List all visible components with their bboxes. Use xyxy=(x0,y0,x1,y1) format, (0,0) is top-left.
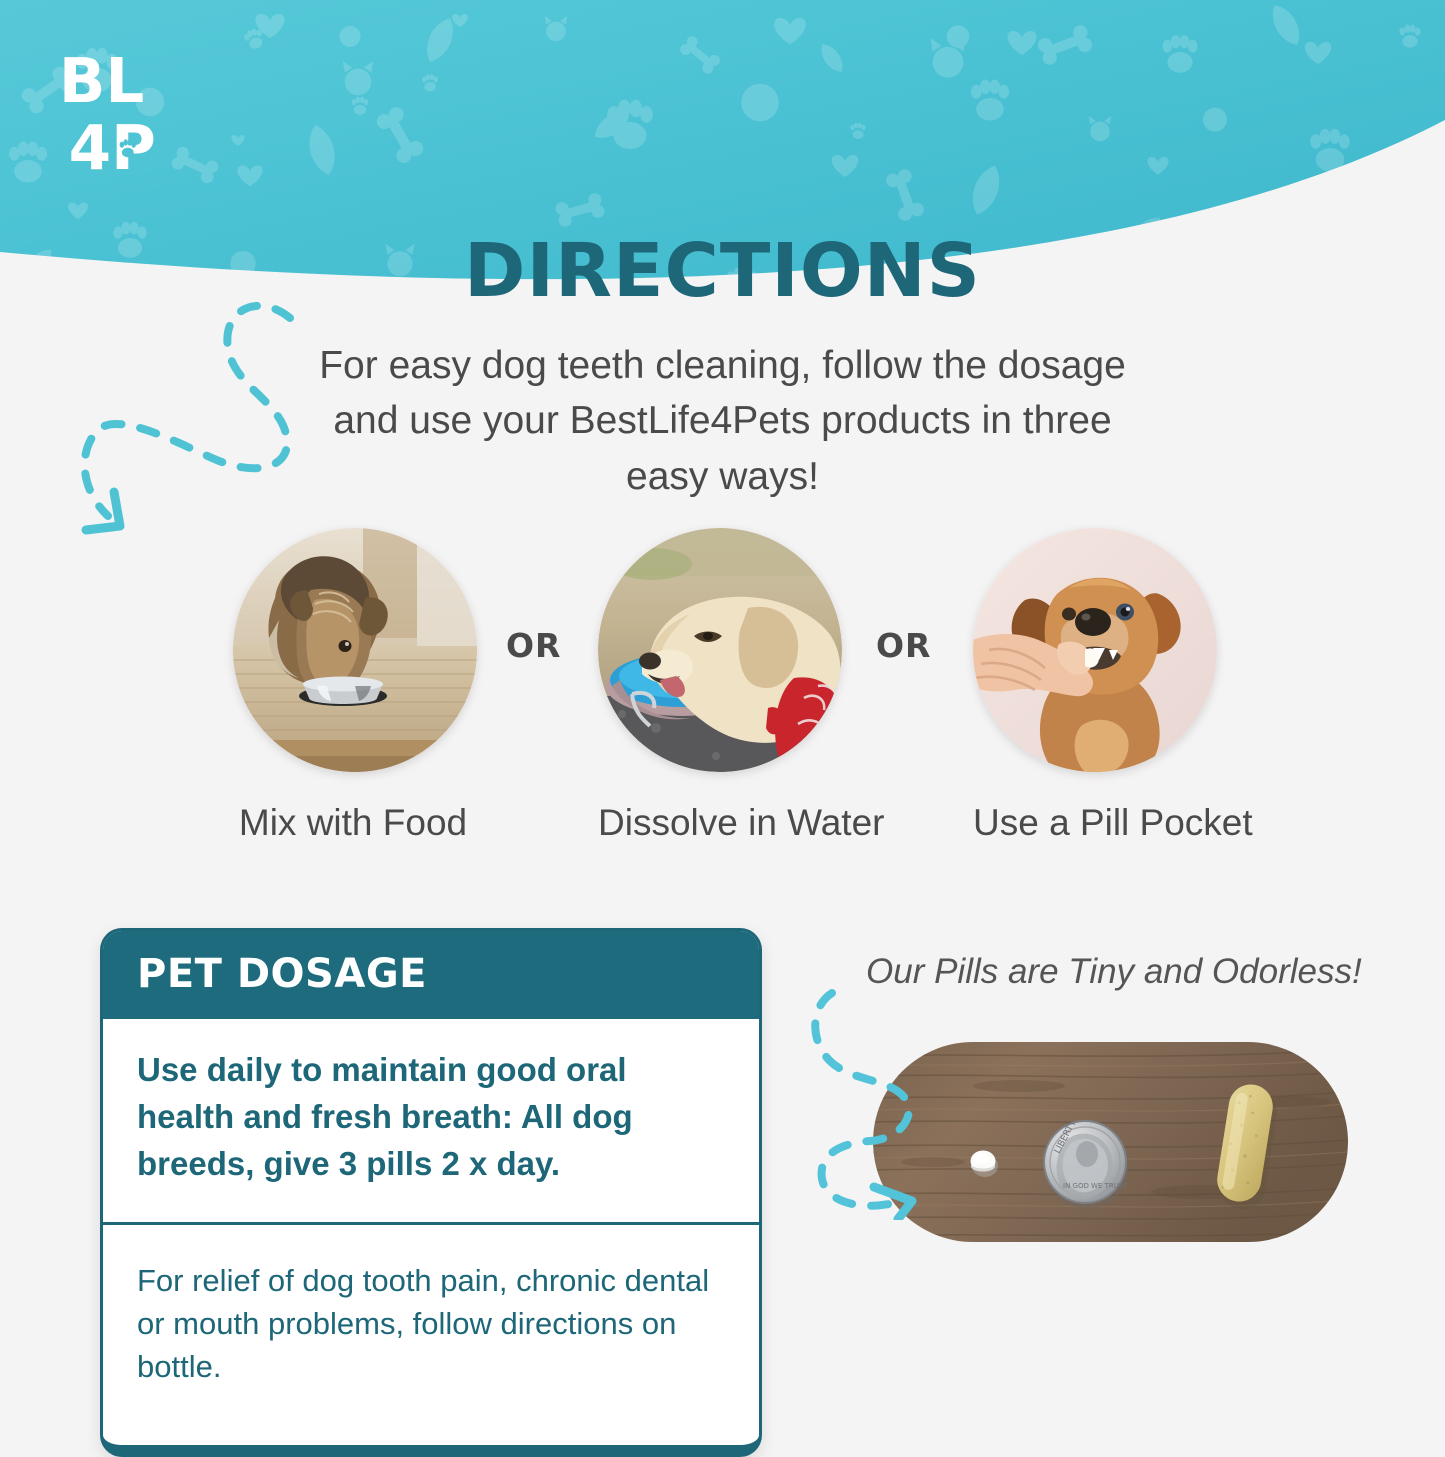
dog-eating-from-bowl-photo xyxy=(233,528,477,772)
brand-logo[interactable]: BL 4P xyxy=(58,47,168,177)
method-label: Dissolve in Water xyxy=(598,802,842,844)
page-subtitle: For easy dog teeth cleaning, follow the … xyxy=(308,338,1138,504)
logo-text-4p: 4P xyxy=(69,113,156,177)
pet-dosage-primary-text: Use daily to maintain good oral health a… xyxy=(103,1019,759,1225)
or-separator-1: OR xyxy=(506,626,561,665)
dashed-curved-arrow-icon xyxy=(52,282,332,562)
method-label: Use a Pill Pocket xyxy=(973,802,1217,844)
pet-dosage-heading: PET DOSAGE xyxy=(103,931,759,1019)
dashed-curved-arrow-right-icon xyxy=(808,975,1038,1220)
pet-dosage-secondary-text: For relief of dog tooth pain, chronic de… xyxy=(103,1225,759,1445)
method-label: Mix with Food xyxy=(229,802,477,844)
dog-drinking-from-bowl-photo xyxy=(598,528,842,772)
methods-row: Mix with Food OR xyxy=(0,528,1445,838)
coin-motto-text: IN GOD WE TRUST xyxy=(1063,1182,1128,1190)
method-dissolve-in-water: Dissolve in Water xyxy=(598,528,842,844)
pet-dosage-card: PET DOSAGE Use daily to maintain good or… xyxy=(100,928,762,1457)
hand-feeding-dog-pill-photo xyxy=(973,528,1217,772)
method-use-a-pill-pocket: Use a Pill Pocket xyxy=(973,528,1217,844)
method-mix-with-food: Mix with Food xyxy=(233,528,477,844)
logo-text-bl: BL xyxy=(59,47,144,117)
or-separator-2: OR xyxy=(876,626,931,665)
